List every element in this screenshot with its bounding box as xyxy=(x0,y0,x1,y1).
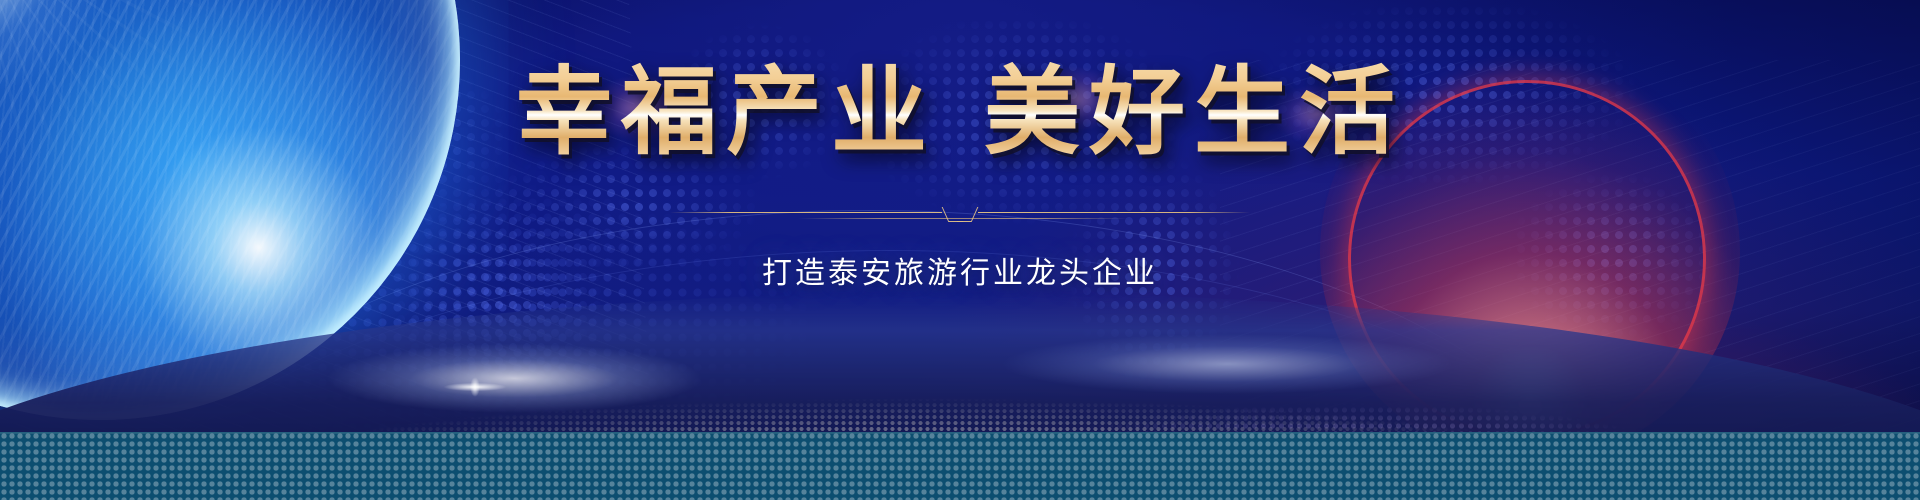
hero-banner: 幸福产业美好生活 打造泰安旅游行业龙头企业 xyxy=(0,0,1920,500)
title-part-1: 幸福产业 xyxy=(516,59,936,166)
ornamental-divider xyxy=(670,205,1250,227)
divider-line-left xyxy=(670,212,942,213)
headline-row: 幸福产业美好生活 xyxy=(0,62,1920,164)
page-title: 幸福产业美好生活 xyxy=(516,62,1404,164)
night-cityscape xyxy=(0,294,1920,444)
chevron-down-icon xyxy=(945,207,975,223)
teal-bar-dot-texture xyxy=(0,432,1920,500)
city-lights-secondary xyxy=(998,334,1881,444)
city-light-starburst-icon xyxy=(430,374,520,400)
title-part-2: 美好生活 xyxy=(984,59,1404,166)
page-subtitle: 打造泰安旅游行业龙头企业 xyxy=(0,248,1920,292)
divider-line-right xyxy=(978,212,1250,213)
bottom-teal-bar xyxy=(0,432,1920,500)
